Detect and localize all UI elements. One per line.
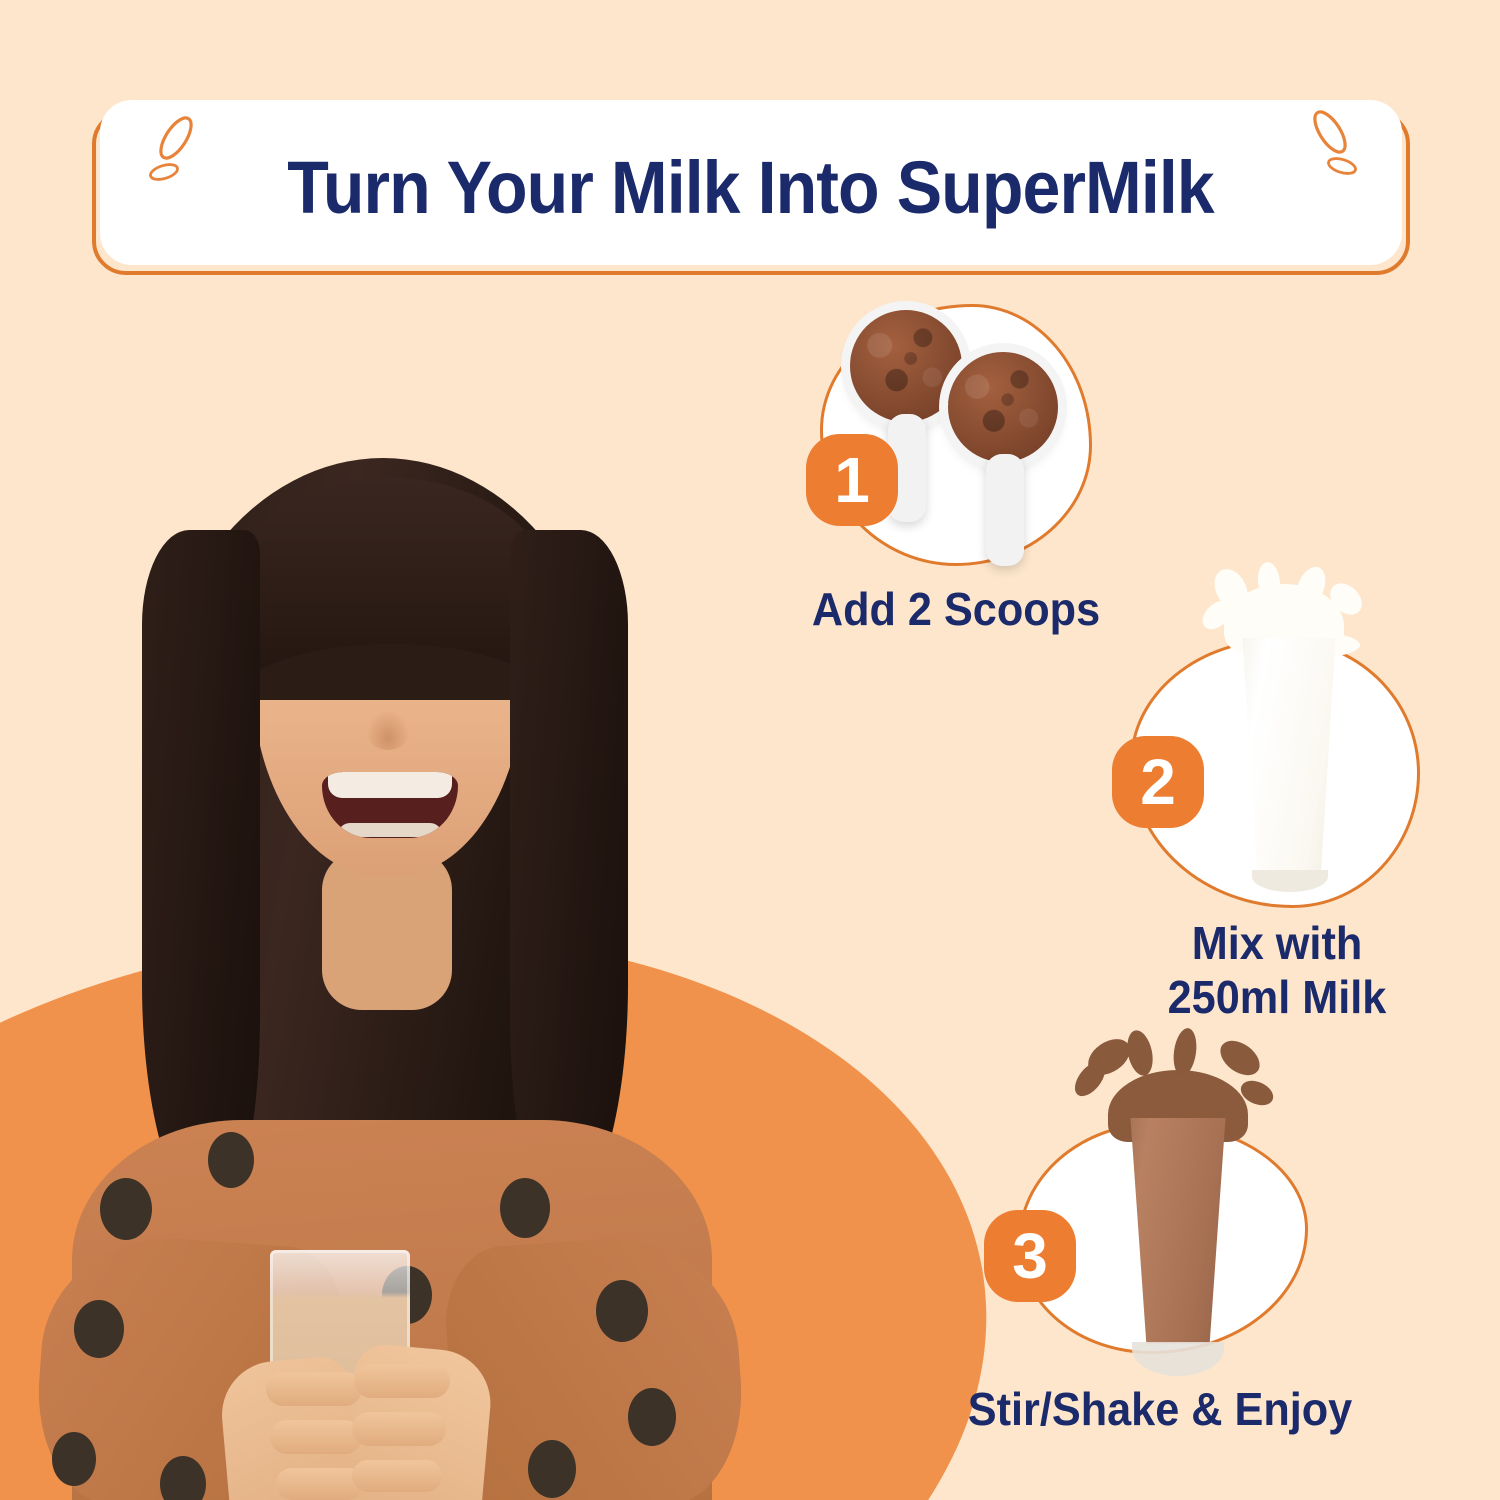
polka-dot [628,1388,676,1446]
polka-dot [500,1178,550,1238]
sparkle-left-icon [142,112,212,192]
step-2-caption: Mix with 250ml Milk [1056,916,1498,1025]
chocolate-splash-spike [1123,1028,1156,1078]
step-3-badge: 3 [984,1210,1076,1302]
finger [270,1420,362,1454]
chocolate-glass-base [1132,1342,1224,1376]
step-3[interactable]: 3 Stir/Shake & Enjoy [970,1010,1350,1460]
title-card-surface: Turn Your Milk Into SuperMilk [100,100,1402,265]
polka-dot [528,1440,576,1498]
title-card: Turn Your Milk Into SuperMilk [92,100,1410,265]
sparkle-right-icon [1294,106,1364,186]
step-1-badge: 1 [806,434,898,526]
polka-dot [100,1178,152,1240]
polka-dot [596,1280,648,1342]
step-2-badge: 2 [1112,736,1204,828]
polka-dot [208,1132,254,1188]
mouth [322,772,458,838]
finger [276,1468,364,1500]
page-title: Turn Your Milk Into SuperMilk [288,145,1214,230]
nose [366,710,410,750]
chocolate-splash-spike [1171,1027,1199,1078]
finger [266,1372,362,1406]
step-1-caption: Add 2 Scoops [740,582,1172,636]
step-2[interactable]: 2 Mix with 250ml Milk [1112,560,1442,1010]
finger [352,1412,446,1446]
hair-left-strand [142,530,260,1220]
chocolate-splash-spike [1214,1034,1266,1083]
upper-teeth [328,772,452,798]
hero-girl-image [30,420,750,1500]
finger [354,1364,450,1398]
hair-right-strand [510,530,628,1220]
polka-dot [52,1432,96,1486]
step-3-caption: Stir/Shake & Enjoy [859,1382,1461,1436]
finger [352,1460,442,1492]
step-1[interactable]: 1 Add 2 Scoops [806,300,1106,640]
polka-dot [74,1300,124,1358]
poster-canvas: Turn Your Milk Into SuperMilk 1 Add 2 Sc… [0,0,1500,1500]
lower-teeth [338,823,442,837]
